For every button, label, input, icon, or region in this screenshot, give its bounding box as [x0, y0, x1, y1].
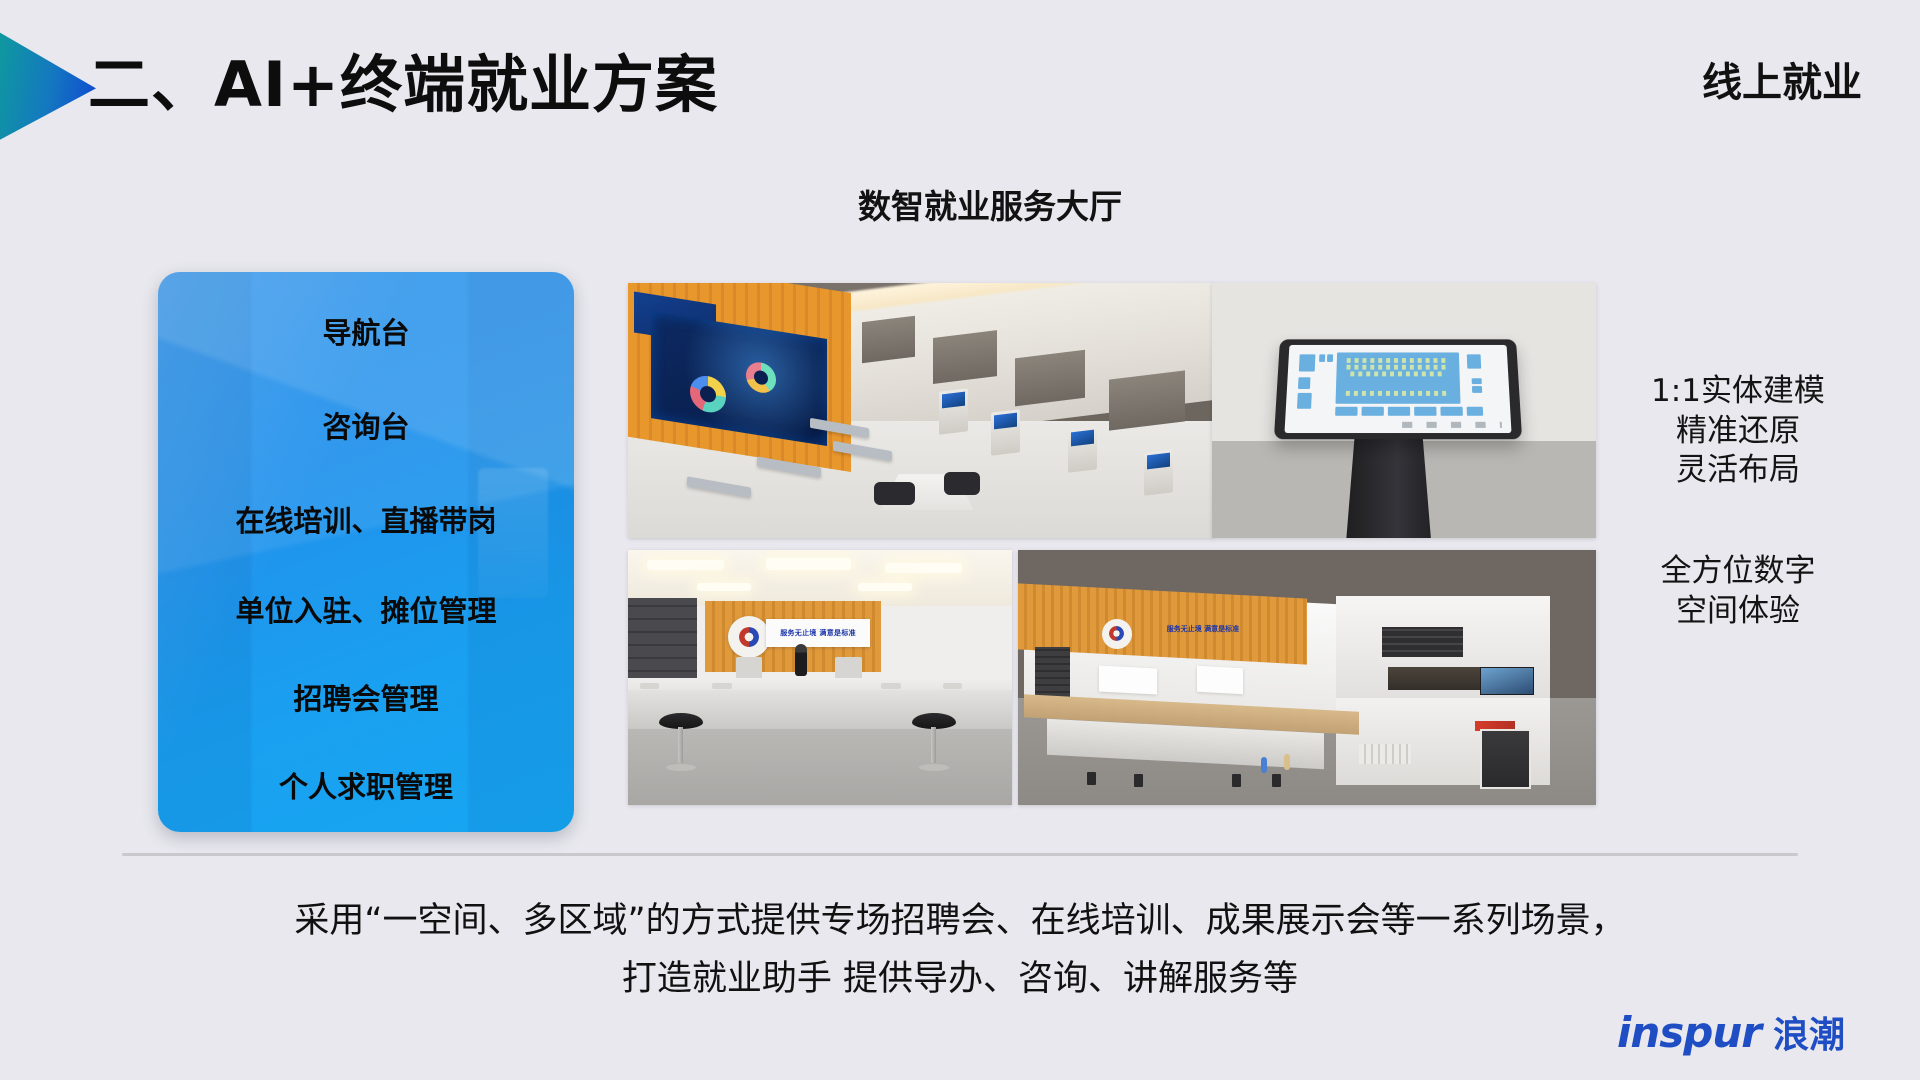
- feature-item: 咨询台: [158, 404, 574, 446]
- feature-item: 导航台: [158, 310, 574, 352]
- service-hall-overview-image: [628, 283, 1214, 538]
- wall-banner-text: 服务无止境 满意是标准: [780, 628, 856, 638]
- feature-item: 个人求职管理: [158, 764, 574, 806]
- inspur-logo-cn: 浪潮: [1773, 1006, 1845, 1058]
- inspur-logo-en: inspur: [1617, 1008, 1761, 1057]
- header-arrow-icon: [0, 28, 96, 144]
- feature-card: 导航台 咨询台 在线培训、直播带岗 单位入驻、摊位管理 招聘会管理 个人求职管理…: [158, 272, 574, 832]
- side-note-experience: 全方位数字 空间体验: [1614, 552, 1862, 631]
- side-note-modeling: 1:1实体建模 精准还原 灵活布局: [1614, 372, 1862, 491]
- section-divider: [122, 853, 1798, 856]
- page-title: 二、AI+终端就业方案: [88, 34, 718, 124]
- feature-item: 在线培训、直播带岗: [158, 498, 574, 540]
- slide-root: 二、AI+终端就业方案 线上就业 数智就业服务大厅 导航台 咨询台 在线培训、直…: [0, 0, 1920, 1080]
- service-emblem-icon: [1102, 619, 1132, 649]
- header-right-label: 线上就业: [1702, 50, 1862, 108]
- interactive-kiosk-floorplan-image: [1212, 283, 1596, 538]
- aerial-cutaway-layout-image: 服务无止境 满意是标准: [1018, 550, 1596, 805]
- wall-banner: 服务无止境 满意是标准: [1145, 619, 1261, 639]
- reception-desk-front-image: 服务无止境 满意是标准: [628, 550, 1012, 805]
- section-title: 数智就业服务大厅: [858, 180, 1122, 228]
- caption-line-2: 打造就业助手 提供导办、咨询、讲解服务等: [0, 951, 1920, 1009]
- feature-item: 招聘会管理: [158, 676, 574, 718]
- bottom-caption: 采用“一空间、多区域”的方式提供专场招聘会、在线培训、成果展示会等一系列场景， …: [0, 893, 1920, 1009]
- service-emblem-icon: [728, 616, 770, 658]
- wall-banner-text: 服务无止境 满意是标准: [1167, 624, 1239, 634]
- caption-line-1: 采用“一空间、多区域”的方式提供专场招聘会、在线培训、成果展示会等一系列场景，: [0, 893, 1920, 951]
- feature-item: 单位入驻、摊位管理: [158, 588, 574, 630]
- inspur-logo: inspur 浪潮: [1617, 1006, 1845, 1058]
- wall-banner: 服务无止境 满意是标准: [766, 619, 870, 647]
